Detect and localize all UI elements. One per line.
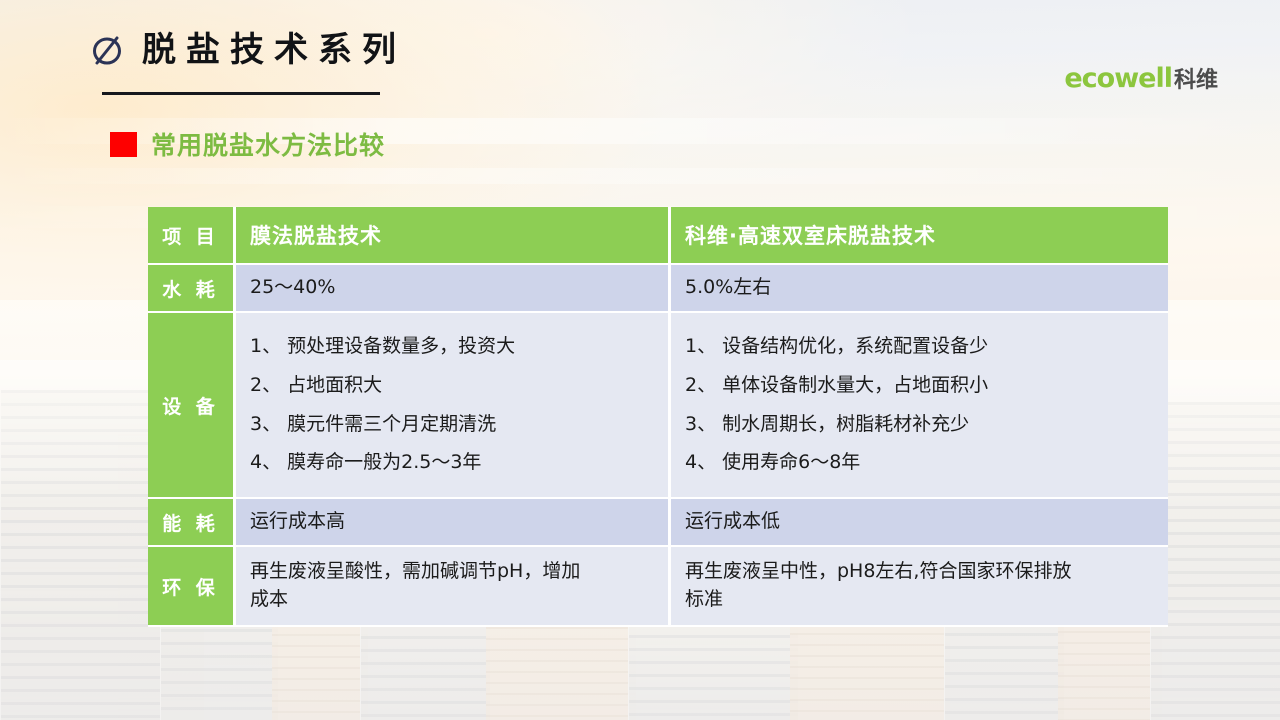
- cell-environment-b: 再生废液呈中性，pH8左右,符合国家环保排放 标准: [668, 547, 1168, 627]
- page-title: 脱盐技术系列: [142, 33, 406, 67]
- cell-equipment-a: 1、 预处理设备数量多，投资大 2、 占地面积大 3、 膜元件需三个月定期清洗 …: [236, 313, 668, 499]
- row-label-energy: 能 耗: [148, 499, 236, 547]
- section-subtitle: 常用脱盐水方法比较: [110, 126, 385, 162]
- title-divider: [102, 92, 380, 95]
- list-item: 3、 制水周期长，树脂耗材补充少: [685, 411, 1158, 439]
- brand-logo: ecowell 科维: [1064, 62, 1218, 94]
- table-header-label: 项 目: [148, 207, 236, 265]
- page-title-row: 脱盐技术系列: [90, 32, 406, 68]
- logo-brand-cn-text: 科维: [1174, 62, 1218, 94]
- cell-energy-b: 运行成本低: [668, 499, 1168, 547]
- section-subtitle-text: 常用脱盐水方法比较: [151, 126, 385, 162]
- cell-water-a: 25～40%: [236, 265, 668, 313]
- list-item: 2、 占地面积大: [250, 372, 658, 400]
- list-item: 3、 膜元件需三个月定期清洗: [250, 411, 658, 439]
- table-row: 能 耗 运行成本高 运行成本低: [148, 499, 1168, 547]
- cell-equipment-b: 1、 设备结构优化，系统配置设备少 2、 单体设备制水量大，占地面积小 3、 制…: [668, 313, 1168, 499]
- row-label-equipment: 设 备: [148, 313, 236, 499]
- text-line: 成本: [250, 586, 658, 614]
- table-row: 设 备 1、 预处理设备数量多，投资大 2、 占地面积大 3、 膜元件需三个月定…: [148, 313, 1168, 499]
- equipment-list-a: 1、 预处理设备数量多，投资大 2、 占地面积大 3、 膜元件需三个月定期清洗 …: [250, 333, 658, 476]
- text-line: 再生废液呈酸性，需加碱调节pH，增加: [250, 558, 658, 586]
- cell-environment-a: 再生废液呈酸性，需加碱调节pH，增加 成本: [236, 547, 668, 627]
- text-line: 再生废液呈中性，pH8左右,符合国家环保排放: [685, 558, 1158, 586]
- table-row: 环 保 再生废液呈酸性，需加碱调节pH，增加 成本 再生废液呈中性，pH8左右,…: [148, 547, 1168, 627]
- list-item: 1、 预处理设备数量多，投资大: [250, 333, 658, 361]
- list-item: 1、 设备结构优化，系统配置设备少: [685, 333, 1158, 361]
- list-item: 4、 膜寿命一般为2.5～3年: [250, 449, 658, 477]
- table-header-col-b: 科维·高速双室床脱盐技术: [668, 207, 1168, 265]
- text-line: 标准: [685, 586, 1158, 614]
- table-row: 水 耗 25～40% 5.0%左右: [148, 265, 1168, 313]
- comparison-table: 项 目 膜法脱盐技术 科维·高速双室床脱盐技术 水 耗 25～40% 5.0%左…: [148, 207, 1168, 627]
- list-item: 2、 单体设备制水量大，占地面积小: [685, 372, 1158, 400]
- circle-slash-icon: [90, 32, 124, 68]
- cell-energy-a: 运行成本高: [236, 499, 668, 547]
- logo-brand-text: ecowell: [1064, 63, 1172, 94]
- row-label-water: 水 耗: [148, 265, 236, 313]
- row-label-environment: 环 保: [148, 547, 236, 627]
- list-item: 4、 使用寿命6～8年: [685, 449, 1158, 477]
- table-header-row: 项 目 膜法脱盐技术 科维·高速双室床脱盐技术: [148, 207, 1168, 265]
- square-bullet-icon: [110, 132, 137, 157]
- equipment-list-b: 1、 设备结构优化，系统配置设备少 2、 单体设备制水量大，占地面积小 3、 制…: [685, 333, 1158, 476]
- cell-water-b: 5.0%左右: [668, 265, 1168, 313]
- table-body: 项 目 膜法脱盐技术 科维·高速双室床脱盐技术 水 耗 25～40% 5.0%左…: [148, 207, 1168, 627]
- table-header-col-a: 膜法脱盐技术: [236, 207, 668, 265]
